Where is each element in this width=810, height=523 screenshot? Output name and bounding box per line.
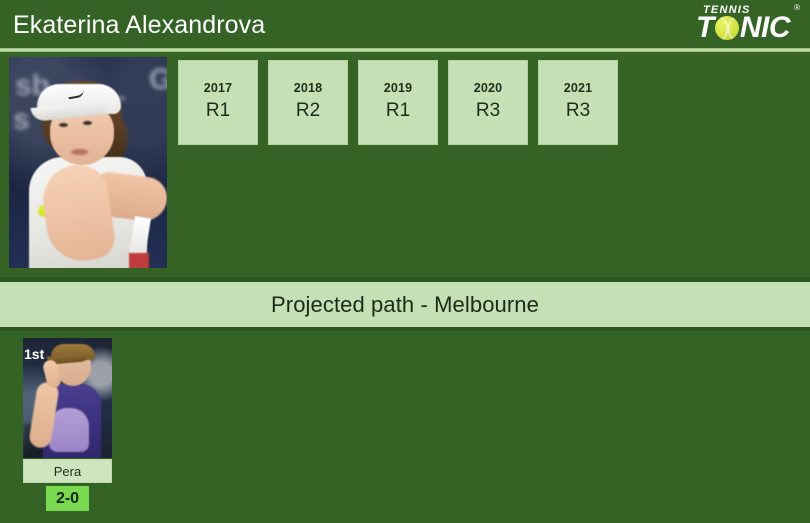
projected-path-banner: Projected path - Melbourne <box>0 282 810 327</box>
history-round-value: R3 <box>476 100 500 122</box>
header-divider <box>0 48 810 52</box>
history-round-value: R1 <box>206 100 230 122</box>
history-card-2021[interactable]: 2021 R3 <box>538 60 618 145</box>
history-card-2017[interactable]: 2017 R1 <box>178 60 258 145</box>
history-round-value: R3 <box>566 100 590 122</box>
photo-lips <box>71 149 88 155</box>
banner-bottom-strip <box>0 327 810 331</box>
history-year-label: 2021 <box>564 81 593 95</box>
history-round-value: R2 <box>296 100 320 122</box>
history-card-2019[interactable]: 2019 R1 <box>358 60 438 145</box>
history-card-2018[interactable]: 2018 R2 <box>268 60 348 145</box>
head-to-head-badge[interactable]: 2-0 <box>46 486 89 511</box>
photo-bg-text-2: s <box>13 103 30 137</box>
logo-main-word: T NIC <box>696 13 790 43</box>
history-year-label: 2020 <box>474 81 503 95</box>
header-bar: Ekaterina Alexandrova TENNIS ® T NIC <box>0 0 810 48</box>
round-label: 1st <box>24 346 44 362</box>
photo-eye-left <box>59 123 68 127</box>
history-round-value: R1 <box>386 100 410 122</box>
history-card-2020[interactable]: 2020 R3 <box>448 60 528 145</box>
history-year-label: 2019 <box>384 81 413 95</box>
history-year-label: 2017 <box>204 81 233 95</box>
registered-trademark-icon: ® <box>794 3 800 12</box>
tennis-tonic-logo[interactable]: TENNIS ® T NIC <box>684 3 802 45</box>
logo-letter-t: T <box>696 13 714 43</box>
player-hero-photo: sb s - G <box>9 57 167 268</box>
history-cards: 2017 R1 2018 R2 2019 R1 2020 R3 2021 R3 <box>178 60 618 145</box>
opponent-name[interactable]: Pera <box>23 459 112 483</box>
tennis-ball-icon <box>715 16 739 40</box>
banner-title: Projected path - Melbourne <box>271 292 539 318</box>
photo-eye-right <box>83 121 92 125</box>
page-root: Ekaterina Alexandrova TENNIS ® T NIC sb … <box>0 0 810 523</box>
photo-racket-grip <box>129 253 149 268</box>
history-year-label: 2018 <box>294 81 323 95</box>
logo-letters-nic: NIC <box>740 13 790 43</box>
photo-bg-text-3: G <box>149 63 167 97</box>
page-title: Ekaterina Alexandrova <box>13 11 265 40</box>
